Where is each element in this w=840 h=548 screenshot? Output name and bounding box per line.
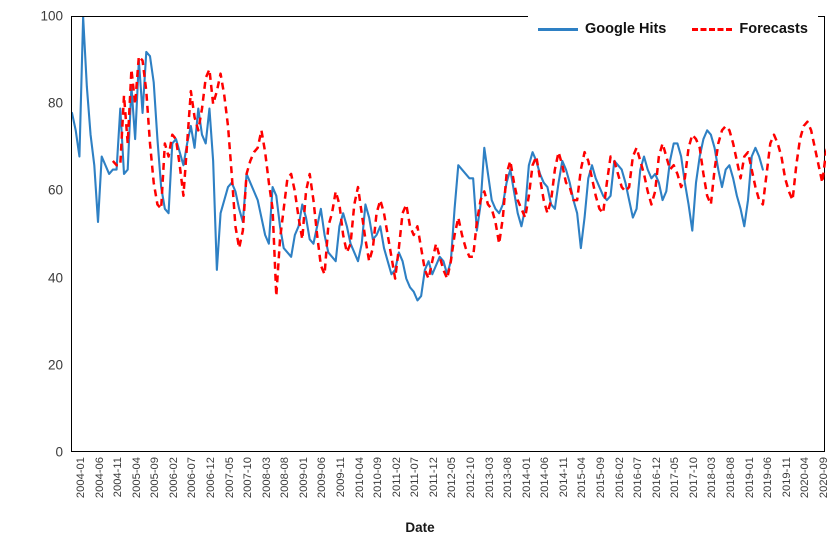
x-axis-tick-label: 2006-02 [168,457,180,498]
x-axis-tick-label: 2004-06 [94,457,106,498]
x-axis-tick-label: 2013-08 [502,457,514,498]
x-axis-tick-label: 2014-01 [521,457,533,498]
legend-swatch-solid-line-icon [538,28,578,31]
x-axis-tick-label: 2017-05 [669,457,681,498]
x-axis-tick-label: 2013-03 [484,457,496,498]
x-axis-tick-label: 2010-04 [354,457,366,498]
x-axis-tick-label: 2005-09 [149,457,161,498]
legend-swatch-dashed-line-icon [692,28,732,31]
chart-legend: Google Hits Forecasts [528,14,818,44]
x-axis-tick-label: 2009-01 [298,457,310,498]
x-axis-tick-label: 2017-10 [688,457,700,498]
x-axis-tick-label: 2019-01 [744,457,756,498]
x-axis-tick-label: 2016-07 [632,457,644,498]
x-axis-tick-label: 2012-10 [465,457,477,498]
y-axis-tick-label: 80 [3,96,63,111]
x-axis-tick-label: 2007-05 [224,457,236,498]
y-axis-title-wrap: Normalized Hits and Forecasts [8,16,30,452]
x-axis-tick-label: 2004-11 [112,457,124,497]
x-axis-tick-label: 2005-04 [131,457,143,498]
x-axis-tick-label: 2009-06 [316,457,328,498]
x-axis-title: Date [0,520,840,535]
x-axis-tick-label: 2011-12 [428,457,440,497]
x-axis-tick-label: 2012-05 [446,457,458,498]
x-axis-tick-label: 2016-02 [614,457,626,498]
y-axis-tick-label: 40 [3,270,63,285]
legend-item-forecasts: Forecasts [692,21,808,37]
legend-label-forecasts: Forecasts [739,21,808,37]
x-axis-tick-label: 2019-06 [762,457,774,498]
x-axis-tick-label: 2009-11 [335,457,347,497]
plot-area [71,16,825,452]
x-axis-tick-label: 2008-03 [261,457,273,498]
chart-container: Normalized Hits and Forecasts 0204060801… [0,0,840,548]
y-axis-tick-label: 0 [3,445,63,460]
series-canvas [72,17,826,453]
x-axis-tick-label: 2010-09 [372,457,384,498]
x-axis-tick-label: 2011-02 [391,457,403,497]
x-axis-ticks: 2004-012004-062004-112005-042005-092006-… [71,455,825,517]
x-axis-tick-label: 2019-11 [781,457,793,497]
x-axis-tick-label: 2018-08 [725,457,737,498]
x-axis-tick-label: 2020-09 [818,457,830,498]
y-axis-tick-label: 60 [3,183,63,198]
y-axis-tick-label: 20 [3,357,63,372]
x-axis-tick-label: 2007-10 [242,457,254,498]
x-axis-tick-label: 2006-12 [205,457,217,498]
x-axis-tick-label: 2016-12 [651,457,663,498]
x-axis-tick-label: 2006-07 [186,457,198,498]
x-axis-tick-label: 2018-03 [706,457,718,498]
x-axis-tick-label: 2015-09 [595,457,607,498]
x-axis-tick-label: 2014-06 [539,457,551,498]
x-axis-tick-label: 2008-08 [279,457,291,498]
x-axis-tick-label: 2014-11 [558,457,570,497]
legend-item-google-hits: Google Hits [538,21,666,37]
x-axis-tick-label: 2004-01 [75,457,87,498]
x-axis-tick-label: 2020-04 [799,457,811,498]
y-axis-tick-label: 100 [3,9,63,24]
x-axis-tick-label: 2015-04 [576,457,588,498]
x-axis-tick-label: 2011-07 [409,457,421,497]
legend-label-google-hits: Google Hits [585,21,666,37]
